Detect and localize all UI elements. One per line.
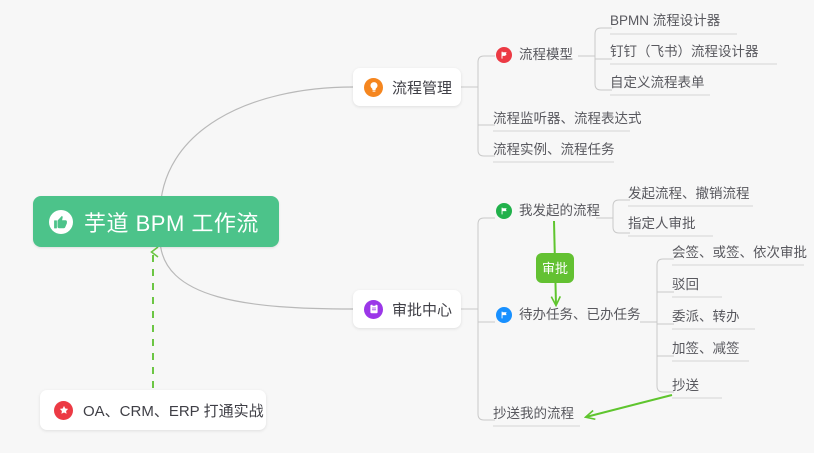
branch-label-approval-center: 审批中心: [392, 299, 452, 320]
flag-icon: [496, 203, 512, 219]
node-label-add-remove-sign: 加签、减签: [672, 342, 740, 356]
node-label-bpmn-designer: BPMN 流程设计器: [610, 14, 720, 28]
integration-node-label: OA、CRM、ERP 打通实战: [83, 400, 264, 421]
node-label-process-model: 流程模型: [519, 48, 573, 62]
node-instance-task[interactable]: 流程实例、流程任务: [493, 143, 615, 160]
mindmap-canvas: 芋道 BPM 工作流 流程管理 流程模型 BPMN 流程设计器 钉钉（飞书）流程…: [0, 0, 814, 453]
star-icon: [54, 401, 73, 420]
root-label: 芋道 BPM 工作流: [84, 206, 259, 238]
node-label-my-initiated-process: 我发起的流程: [519, 204, 600, 218]
branch-label-process-management: 流程管理: [392, 77, 452, 98]
node-my-initiated-process[interactable]: 我发起的流程: [496, 203, 600, 222]
node-reject[interactable]: 驳回: [672, 278, 699, 295]
thumbs-up-icon: [49, 210, 73, 234]
node-countersign-or-sequential[interactable]: 会签、或签、依次审批: [672, 246, 807, 263]
node-label-listener-expression: 流程监听器、流程表达式: [493, 112, 642, 126]
node-add-remove-sign[interactable]: 加签、减签: [672, 342, 740, 359]
approval-annotation-label: 审批: [542, 262, 568, 275]
clipboard-icon: [364, 300, 383, 319]
branch-node-process-management[interactable]: 流程管理: [353, 68, 461, 106]
node-custom-process-form[interactable]: 自定义流程表单: [610, 76, 705, 93]
node-label-start-cancel-process: 发起流程、撤销流程: [628, 187, 750, 201]
node-label-cc-to-me: 抄送我的流程: [493, 407, 574, 421]
node-label-custom-process-form: 自定义流程表单: [610, 76, 705, 90]
node-dingtalk-feishu-designer[interactable]: 钉钉（飞书）流程设计器: [610, 45, 759, 62]
flag-icon: [496, 307, 512, 323]
node-assignee-approval[interactable]: 指定人审批: [628, 217, 696, 234]
root-node[interactable]: 芋道 BPM 工作流: [33, 196, 279, 247]
node-label-dingtalk-feishu-designer: 钉钉（飞书）流程设计器: [610, 45, 759, 59]
node-listener-expression[interactable]: 流程监听器、流程表达式: [493, 112, 642, 129]
node-label-assignee-approval: 指定人审批: [628, 217, 696, 231]
approval-annotation-badge: 审批: [536, 253, 574, 283]
node-label-todo-done-tasks: 待办任务、已办任务: [519, 308, 641, 322]
integration-node[interactable]: OA、CRM、ERP 打通实战: [40, 390, 266, 430]
node-cc-to-me[interactable]: 抄送我的流程: [493, 407, 574, 424]
node-todo-done-tasks[interactable]: 待办任务、已办任务: [496, 307, 641, 326]
node-start-cancel-process[interactable]: 发起流程、撤销流程: [628, 187, 750, 204]
node-label-reject: 驳回: [672, 278, 699, 292]
node-label-countersign-or-sequential: 会签、或签、依次审批: [672, 246, 807, 260]
node-label-delegate-transfer: 委派、转办: [672, 310, 740, 324]
node-bpmn-designer[interactable]: BPMN 流程设计器: [610, 14, 720, 31]
node-label-cc: 抄送: [672, 379, 699, 393]
node-cc[interactable]: 抄送: [672, 379, 699, 396]
flag-icon: [496, 47, 512, 63]
lightbulb-icon: [364, 78, 383, 97]
node-label-instance-task: 流程实例、流程任务: [493, 143, 615, 157]
branch-node-approval-center[interactable]: 审批中心: [353, 290, 461, 328]
node-process-model[interactable]: 流程模型: [496, 47, 573, 66]
node-delegate-transfer[interactable]: 委派、转办: [672, 310, 740, 327]
